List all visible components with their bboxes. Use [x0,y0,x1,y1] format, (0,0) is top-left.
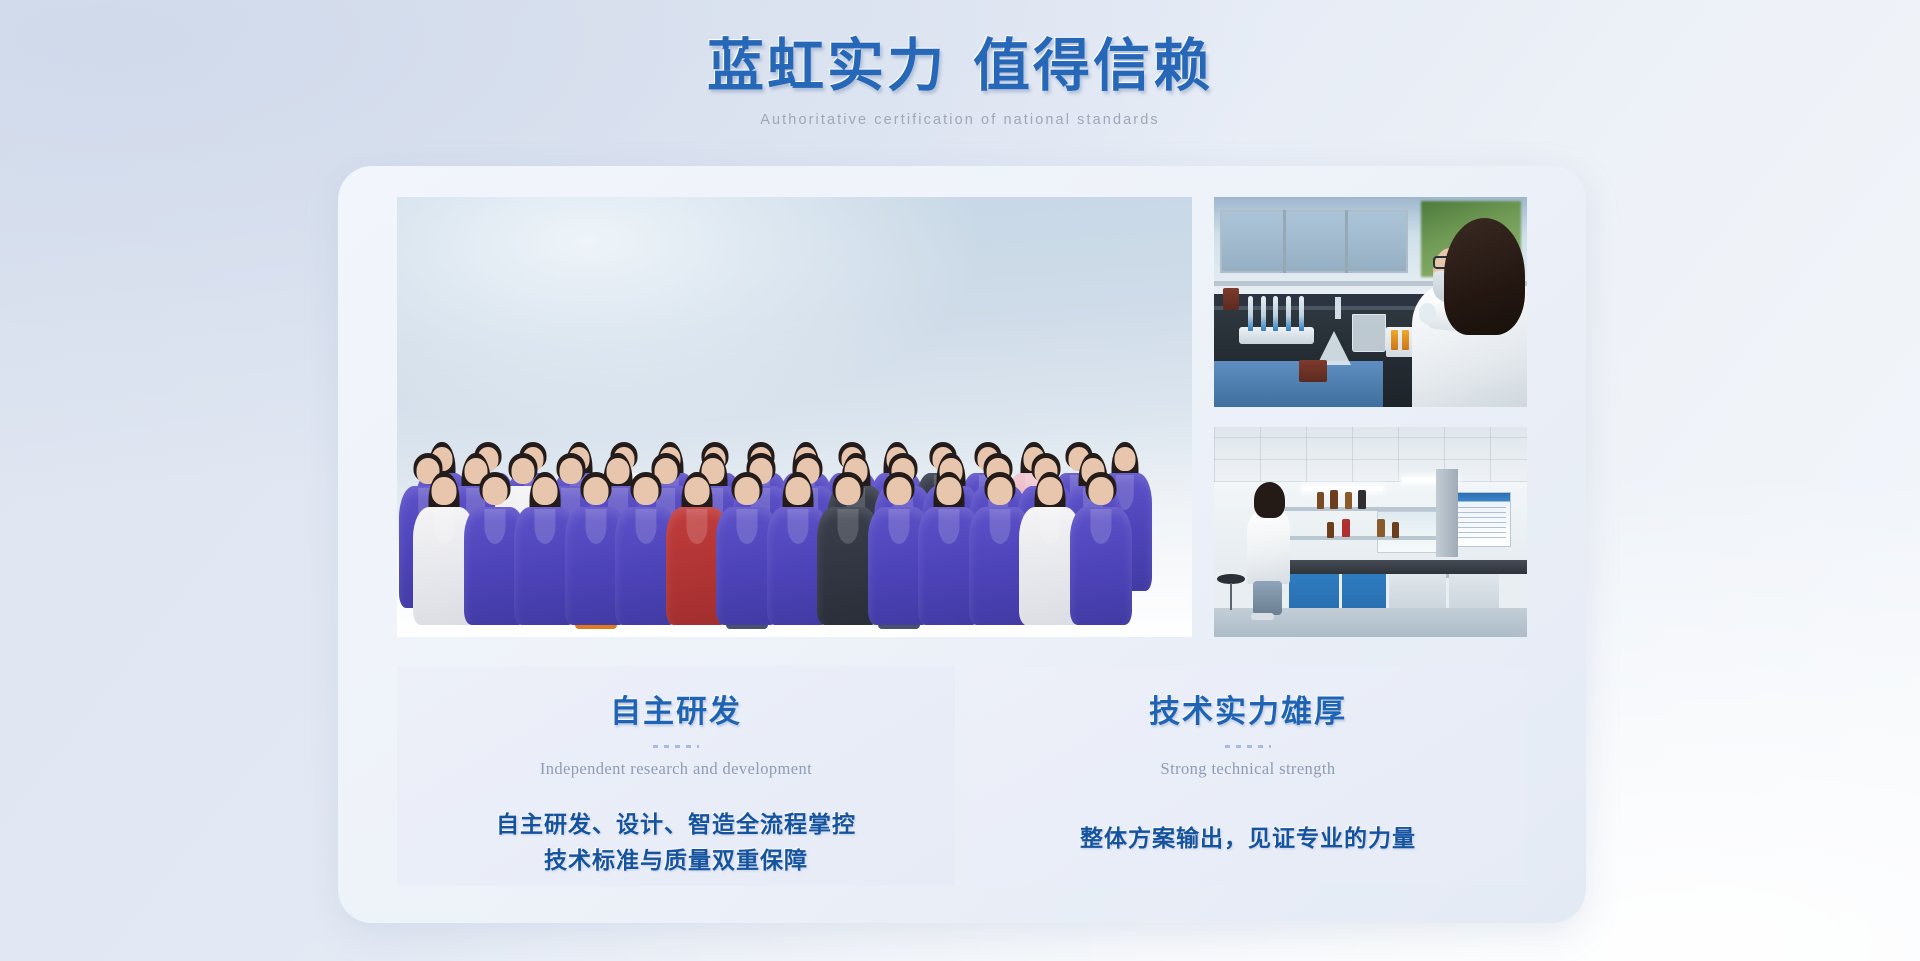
reagent-bottle [1392,522,1399,538]
reagent-bottle [1330,490,1338,509]
card-body-line1: 整体方案输出，见证专业的力量 [969,821,1527,857]
page-subtitle: Authoritative certification of national … [0,112,1920,128]
team-members [397,259,1192,629]
ceiling-light [1302,486,1383,491]
technician-hair [1444,218,1526,335]
card-title: 自主研发 [397,686,955,731]
team-member [1070,472,1132,629]
uniform-collar [1090,509,1111,544]
reagent-bottle [1311,360,1327,382]
card-body: 自主研发、设计、智造全流程掌控 技术标准与质量双重保障 [397,807,955,880]
page-title-part1: 蓝虹实力 [707,35,947,98]
uniform-collar [585,509,606,544]
window-mullion [1283,210,1286,273]
member-head [1038,477,1063,505]
lab-researcher [1245,482,1295,621]
member-head [836,477,861,505]
reagent-bottle [1327,522,1334,538]
lab-technician [1402,218,1527,407]
pipette-icon [1273,296,1278,332]
ceiling-tile-grid [1214,427,1527,482]
uniform-collar [837,509,858,544]
feature-card-rnd[interactable]: 自主研发 Independent research and developmen… [397,666,955,886]
member-uniform [1070,507,1132,625]
feature-card-technical[interactable]: 技术实力雄厚 Strong technical strength 整体方案输出，… [969,666,1527,886]
card-body-line1: 自主研发、设计、智造全流程掌控 [397,807,955,843]
card-body-line2: 技术标准与质量双重保障 [397,843,955,879]
page-title: 蓝虹实力值得信赖 [0,34,1920,100]
member-head [684,477,709,505]
pipette-icon [1248,296,1253,332]
uniform-collar [534,509,555,544]
lab-coat [1247,512,1290,584]
member-head [583,477,608,505]
card-subtitle: Independent research and development [397,759,955,779]
researcher-hair [1254,482,1285,518]
feature-cards: 自主研发 Independent research and developmen… [397,666,1527,886]
reagent-bottle [1377,519,1385,537]
researcher-shoe [1251,613,1274,620]
lab-scene-bottom [1214,427,1527,637]
laboratory-room-photo[interactable] [1214,427,1527,637]
researcher-jeans [1253,581,1282,614]
team-group-photo[interactable] [397,197,1192,637]
reagent-shelf [1283,507,1458,511]
member-head [432,477,457,505]
member-head [482,477,507,505]
dashed-divider-icon [653,745,699,748]
uniform-collar [484,509,505,544]
dashed-divider-icon [1225,745,1271,748]
pipette-icon [1286,296,1291,332]
uniform-collar [736,509,757,544]
reagent-bottle [1223,288,1239,310]
beaker [1352,314,1386,352]
reagent-bottle [1317,492,1324,509]
lab-photo-column [1214,197,1527,637]
stool-leg [1230,583,1232,609]
reagent-shelf [1283,536,1458,540]
member-head [785,477,810,505]
card-title: 技术实力雄厚 [969,686,1527,731]
sample-vial [1391,330,1398,350]
member-head [987,477,1012,505]
content-panel: 自主研发 Independent research and developmen… [338,166,1586,923]
reagent-bottle [1345,492,1352,509]
pipette-icon [1261,296,1266,332]
reagent-bottle [1358,490,1366,509]
lab-scene-top [1214,197,1527,407]
lab-technician-photo[interactable] [1214,197,1527,407]
reagent-bottle [1342,519,1350,537]
uniform-collar [686,509,707,544]
flask-neck [1335,297,1341,319]
media-gallery [397,197,1527,637]
card-body: 整体方案输出，见证专业的力量 [969,821,1527,857]
member-head [533,477,558,505]
uniform-collar [433,509,454,544]
lab-stool [1217,574,1245,612]
safety-poster [1452,492,1511,547]
page-header: 蓝虹实力值得信赖 Authoritative certification of … [0,0,1920,128]
bench-top [1258,557,1527,560]
lab-ceiling [1214,427,1527,482]
page-title-part2: 值得信赖 [973,35,1213,98]
uniform-collar [787,509,808,544]
member-head [937,477,962,505]
pipette-icon [1299,296,1304,332]
uniform-collar [989,509,1010,544]
window-mullion [1345,210,1348,273]
uniform-collar [888,509,909,544]
glass-partition [1220,210,1408,273]
poster-text-lines [1457,507,1505,541]
uniform-collar [938,509,959,544]
card-subtitle: Strong technical strength [969,759,1527,779]
uniform-collar [1039,509,1060,544]
uniform-collar [635,509,656,544]
glove-icon [1419,303,1436,324]
member-head [634,477,659,505]
member-head [735,477,760,505]
member-head [886,477,911,505]
member-head [1088,477,1113,505]
